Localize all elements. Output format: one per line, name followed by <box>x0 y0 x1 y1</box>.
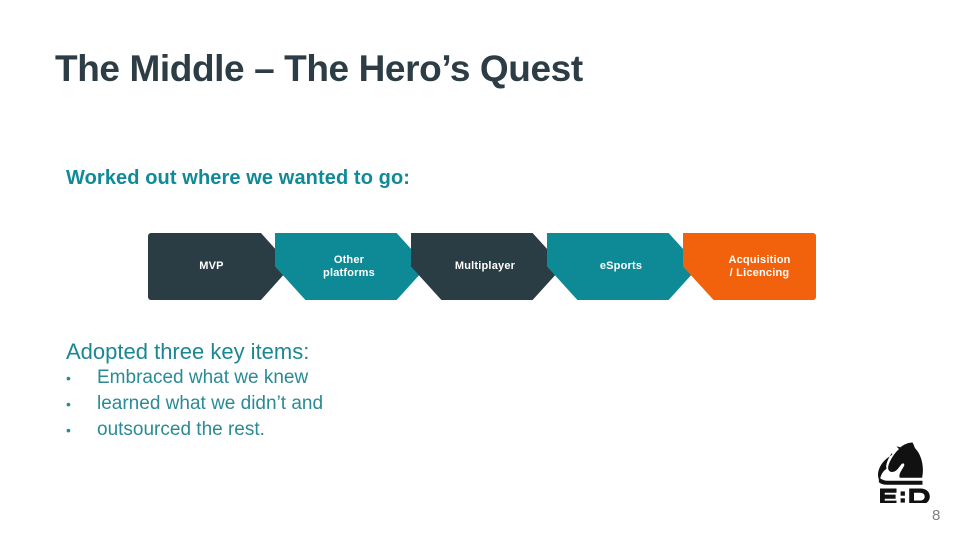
bullet-point-icon: • <box>66 397 97 411</box>
bullet-point-icon: • <box>66 371 97 385</box>
process-step-label: Other platforms <box>323 254 375 280</box>
bullet-point-icon: • <box>66 423 97 437</box>
slide-number: 8 <box>932 507 940 524</box>
body-heading: Adopted three key items: <box>66 339 309 365</box>
process-step-other-platforms[interactable]: Other platforms <box>275 233 427 300</box>
list-item: • outsourced the rest. <box>66 419 323 445</box>
list-item: • Embraced what we knew <box>66 367 323 393</box>
process-step-label: Acquisition / Licencing <box>728 254 790 280</box>
process-step-multiplayer[interactable]: Multiplayer <box>411 233 563 300</box>
process-step-acquisition-licencing[interactable]: Acquisition / Licencing <box>683 233 816 300</box>
list-item-label: learned what we didn’t and <box>97 393 323 415</box>
knight-chess-logo-icon <box>872 441 936 503</box>
process-chevron-diagram: MVP Other platforms Multiplayer eSports … <box>148 233 816 300</box>
slide-canvas: The Middle – The Hero’s Quest Worked out… <box>0 0 960 540</box>
process-step-label: MVP <box>199 260 223 273</box>
process-step-mvp[interactable]: MVP <box>148 233 291 300</box>
key-items-list: • Embraced what we knew • learned what w… <box>66 367 323 445</box>
page-title: The Middle – The Hero’s Quest <box>55 48 583 90</box>
section-subtitle: Worked out where we wanted to go: <box>66 167 410 190</box>
list-item-label: outsourced the rest. <box>97 419 265 441</box>
list-item: • learned what we didn’t and <box>66 393 323 419</box>
process-step-label: Multiplayer <box>455 260 515 273</box>
list-item-label: Embraced what we knew <box>97 367 308 389</box>
process-step-label: eSports <box>600 260 642 273</box>
process-step-esports[interactable]: eSports <box>547 233 699 300</box>
